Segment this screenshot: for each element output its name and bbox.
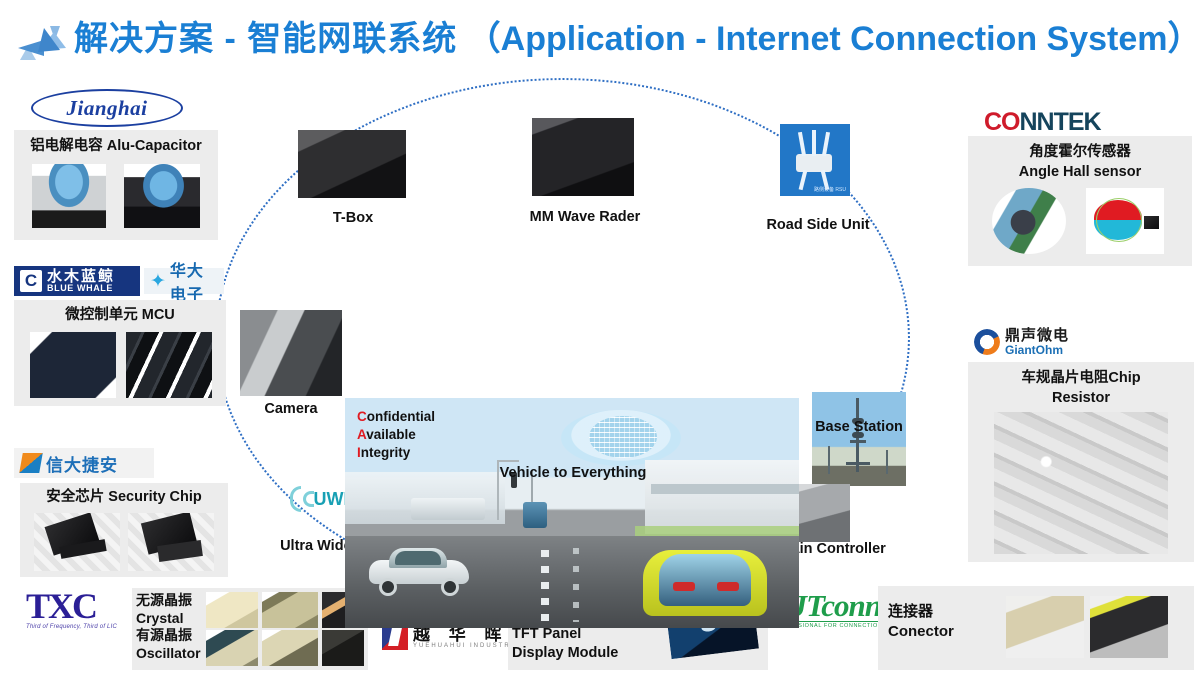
hall-sensor-label-cn: 角度霍尔传感器 xyxy=(968,144,1192,160)
caption-road-side-unit: Road Side Unit xyxy=(748,217,888,233)
xindajiean-mark-icon xyxy=(19,453,43,473)
hall-sensor-image-1 xyxy=(992,188,1066,254)
jianghai-logo: Jianghai xyxy=(22,88,192,128)
chip-resistor-label-en: Resistor xyxy=(968,390,1194,406)
caption-vehicle-to-everything: Vehicle to Everything xyxy=(468,465,678,481)
conntek-logo-part1: CO xyxy=(984,108,1020,136)
rsu-image-caption: 路侧设备 RSU xyxy=(814,186,846,193)
giantohm-en: GiantOhm xyxy=(1005,344,1069,357)
alu-capacitor-image-1 xyxy=(32,164,106,228)
cia-line-confidential: Confidential xyxy=(357,408,435,426)
hall-sensor-image-2 xyxy=(1086,188,1164,254)
huada-cn: 华大电子 xyxy=(170,257,218,305)
giantohm-logo: 鼎声微电 GiantOhm xyxy=(974,328,1069,356)
page-title-cn: 解决方案 - 智能网联系统 xyxy=(74,20,457,58)
blue-whale-cn: 水木蓝鲸 xyxy=(47,269,115,284)
hall-sensor-panel: 角度霍尔传感器 Angle Hall sensor xyxy=(968,136,1192,266)
alu-capacitor-image-2 xyxy=(124,164,200,228)
oscillator-image-1 xyxy=(206,630,258,666)
jianghai-logo-text: Jianghai xyxy=(31,89,183,127)
security-chip-label: 安全芯片 Security Chip xyxy=(20,489,228,505)
connector-image-2 xyxy=(1090,596,1168,658)
caption-mm-wave: MM Wave Rader xyxy=(505,209,665,225)
mcu-image-2 xyxy=(126,332,212,398)
txc-logo-sub: Third of Frequency, Third of LIC xyxy=(26,624,117,630)
xindajiean-cn: 信大捷安 xyxy=(46,451,118,476)
camera-image xyxy=(240,310,342,396)
mm-wave-radar-image xyxy=(532,118,634,196)
mcu-label: 微控制单元 MCU xyxy=(14,307,226,323)
conntek-logo: CONNTEK xyxy=(984,108,1101,137)
caption-base-station: Base Station xyxy=(806,419,912,435)
caption-camera: Camera xyxy=(240,401,342,417)
connector-panel: 连接器 Conector xyxy=(878,586,1194,670)
mcu-panel: 微控制单元 MCU xyxy=(14,300,226,406)
cia-line-available: Available xyxy=(357,426,435,444)
chip-resistor-image xyxy=(994,412,1168,554)
chip-resistor-panel: 车规晶片电阻Chip Resistor xyxy=(968,362,1194,562)
blue-whale-mark-icon: C xyxy=(20,270,42,292)
huada-logo: ✦ 华大电子 xyxy=(144,268,224,294)
triangle-cluster-logo-icon xyxy=(14,20,74,64)
mcu-image-1 xyxy=(30,332,116,398)
txc-logo: TXC Third of Frequency, Third of LIC xyxy=(26,588,117,630)
chip-resistor-label-cn: 车规晶片电阻Chip xyxy=(968,370,1194,386)
base-station-image xyxy=(812,392,906,486)
oscillator-image-3 xyxy=(322,630,364,666)
yuehuahui-en: YUEHUAHUI INDUSTRY xyxy=(413,643,517,649)
t-box-image xyxy=(298,130,406,198)
crystal-oscillator-panel: 无源晶振 Crystal 有源晶振 Oscillator xyxy=(132,588,368,670)
road-side-unit-image: 路侧设备 RSU xyxy=(780,124,850,196)
giantohm-mark-icon xyxy=(974,329,1000,355)
oscillator-image-2 xyxy=(262,630,318,666)
giantohm-cn: 鼎声微电 xyxy=(1005,328,1069,344)
v2x-hero-image: Confidential Available Integrity xyxy=(345,398,799,628)
conntek-logo-part2: NNTEK xyxy=(1020,108,1101,136)
connector-image-1 xyxy=(1006,596,1084,658)
security-chip-panel: 安全芯片 Security Chip xyxy=(20,483,228,577)
slide-header: 解决方案 - 智能网联系统 （Application - Internet Co… xyxy=(0,0,1200,82)
cia-overlay: Confidential Available Integrity xyxy=(357,408,435,463)
txc-logo-text: TXC xyxy=(26,588,117,624)
alu-capacitor-label: 铝电解电容 Alu-Capacitor xyxy=(14,138,218,154)
crystal-image-1 xyxy=(206,592,258,628)
slide-root: 解决方案 - 智能网联系统 （Application - Internet Co… xyxy=(0,0,1200,674)
security-chip-image-1 xyxy=(34,513,120,571)
page-title: 解决方案 - 智能网联系统 （Application - Internet Co… xyxy=(74,16,1200,62)
blue-whale-en: BLUE WHALE xyxy=(47,284,115,293)
security-chip-image-2 xyxy=(128,513,214,571)
caption-t-box: T-Box xyxy=(280,210,426,226)
star-icon: ✦ xyxy=(150,272,166,291)
crystal-labels: 无源晶振 Crystal 有源晶振 Oscillator xyxy=(136,592,204,662)
xindajiean-logo: 信大捷安 xyxy=(14,448,154,478)
page-title-en: （Application - Internet Connection Syste… xyxy=(467,20,1200,58)
alu-capacitor-panel: 铝电解电容 Alu-Capacitor xyxy=(14,130,218,240)
connector-labels: 连接器 Conector xyxy=(888,602,1008,643)
hall-sensor-label-en: Angle Hall sensor xyxy=(968,164,1192,180)
crystal-image-2 xyxy=(262,592,318,628)
yuehuahui-cn: 越 华 晖 xyxy=(413,626,517,643)
blue-whale-logo: C 水木蓝鲸 BLUE WHALE xyxy=(14,266,140,296)
cia-line-integrity: Integrity xyxy=(357,444,435,462)
